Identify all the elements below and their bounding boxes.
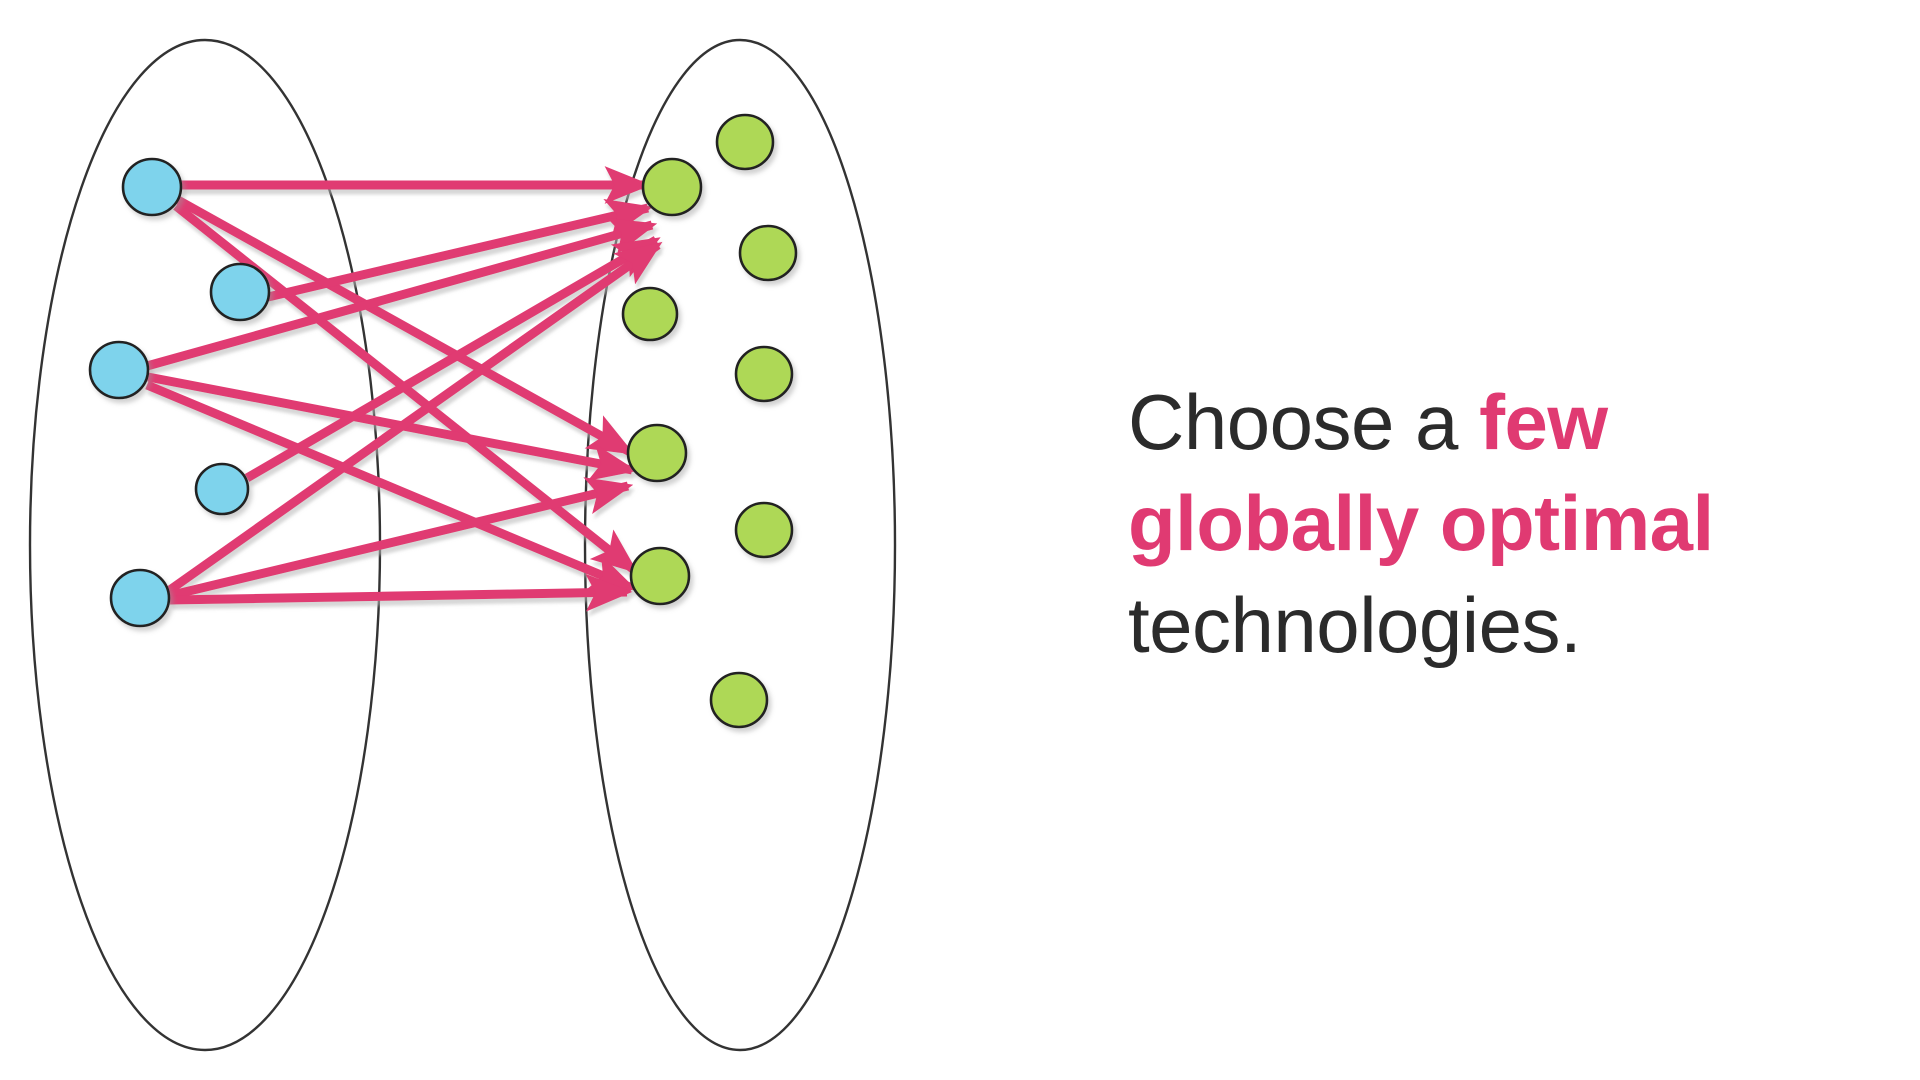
source-node-b5[interactable] xyxy=(111,570,169,626)
source-node-b2[interactable] xyxy=(211,264,269,320)
caption-highlight-globally-optimal: globally optimal xyxy=(1128,473,1868,574)
source-set-outline xyxy=(30,40,380,1050)
target-node-g6[interactable] xyxy=(628,425,686,481)
caption-plain-1: Choose a xyxy=(1128,378,1479,466)
source-node-b4[interactable] xyxy=(196,464,248,514)
caption-line-3: technologies. xyxy=(1128,575,1868,676)
edge-b5-to-g8 xyxy=(170,592,627,600)
source-node-b1[interactable] xyxy=(123,159,181,215)
target-node-g7[interactable] xyxy=(736,503,792,557)
caption-line-1: Choose a few xyxy=(1128,372,1868,473)
target-nodes xyxy=(623,115,796,727)
edge-b1-to-g6 xyxy=(178,200,630,452)
target-node-g4[interactable] xyxy=(623,288,677,340)
edge-layer xyxy=(147,185,658,600)
target-node-g2[interactable] xyxy=(717,115,773,169)
target-node-g8[interactable] xyxy=(631,548,689,604)
caption-text: Choose a few globally optimal technologi… xyxy=(1128,372,1868,676)
target-node-g5[interactable] xyxy=(736,347,792,401)
target-node-g3[interactable] xyxy=(740,226,796,280)
target-node-g9[interactable] xyxy=(711,673,767,727)
target-node-g1[interactable] xyxy=(643,159,701,215)
slide-canvas: Choose a few globally optimal technologi… xyxy=(0,0,1920,1080)
caption-highlight-few: few xyxy=(1479,378,1608,466)
source-node-b3[interactable] xyxy=(90,342,148,398)
